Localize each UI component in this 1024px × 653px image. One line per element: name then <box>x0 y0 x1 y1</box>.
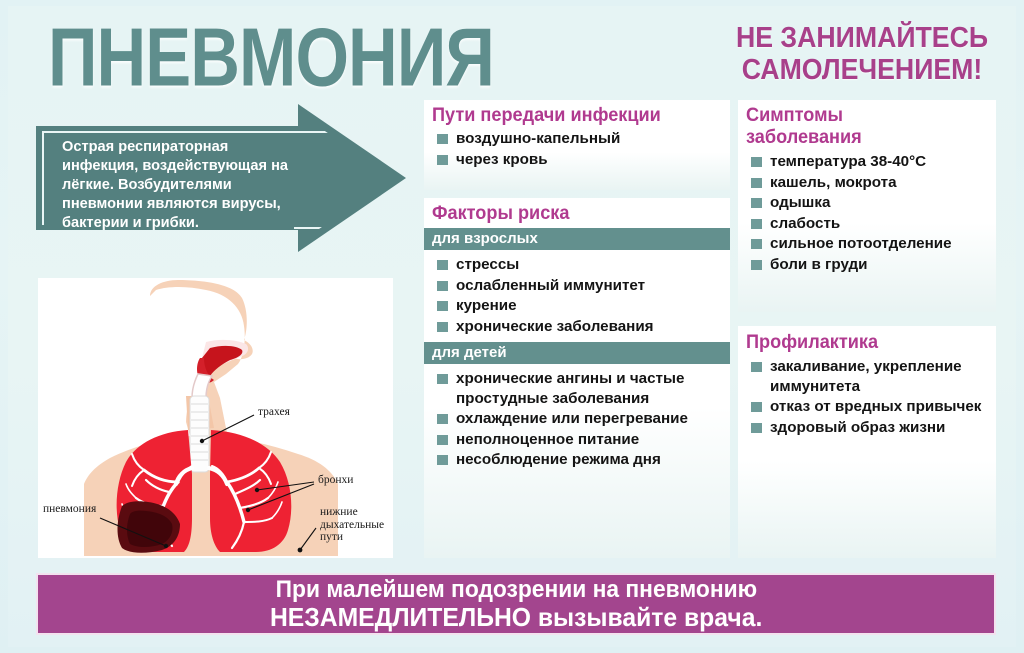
list-item: ослабленный иммунитет <box>434 276 730 296</box>
list-item: одышка <box>748 193 996 213</box>
list-item-label: хронические заболевания <box>456 318 654 335</box>
definition-arrow: Острая респираторная инфекция, воздейств… <box>36 104 406 252</box>
label-trachea: трахея <box>258 406 290 418</box>
label-pneumonia: пневмония <box>43 503 96 515</box>
list-item: через кровь <box>434 150 730 170</box>
list-item-label: стрессы <box>456 256 519 273</box>
list-item-label: закаливание, укрепление иммунитета <box>770 358 962 395</box>
list-item-label: через кровь <box>456 151 548 168</box>
list-item-label: здоровый образ жизни <box>770 419 945 436</box>
list-item: здоровый образ жизни <box>748 418 996 438</box>
risk-factors-adults-subtitle: для взрослых <box>424 228 730 250</box>
bullet-square-icon <box>437 455 448 465</box>
bullet-square-icon <box>437 301 448 311</box>
bullet-square-icon <box>751 260 762 270</box>
call-doctor-banner: При малейшем подозрении на пневмонию НЕЗ… <box>36 573 996 635</box>
list-item: стрессы <box>434 255 730 275</box>
bullet-square-icon <box>751 198 762 208</box>
respiratory-system-illustration: трахея бронхи нижние дыхательные пути пн… <box>38 278 393 558</box>
poster-root: ПНЕВМОНИЯ НЕ ЗАНИМАЙТЕСЬ САМОЛЕЧЕНИЕМ! О… <box>0 0 1024 653</box>
symptoms-title-line-1: Симптомы <box>746 104 979 126</box>
bullet-square-icon <box>751 402 762 412</box>
bullet-square-icon <box>751 178 762 188</box>
bullet-square-icon <box>751 219 762 229</box>
bullet-square-icon <box>751 157 762 167</box>
page-title: ПНЕВМОНИЯ <box>48 16 494 99</box>
list-item: хронические ангины и частые простудные з… <box>434 369 730 408</box>
bullet-square-icon <box>437 134 448 144</box>
definition-text: Острая респираторная инфекция, воздейств… <box>62 138 302 233</box>
warning-heading-line-2: САМОЛЕЧЕНИЕМ! <box>724 54 1000 86</box>
symptoms-card: Симптомы заболевания температура 38-40°C… <box>738 100 996 312</box>
list-item: кашель, мокрота <box>748 173 996 193</box>
bullet-square-icon <box>437 260 448 270</box>
risk-factors-children-subtitle: для детей <box>424 342 730 364</box>
banner-line-1: При малейшем подозрении на пневмонию <box>275 576 756 603</box>
list-item-label: ослабленный иммунитет <box>456 277 645 294</box>
list-item: боли в груди <box>748 255 996 275</box>
list-item: отказ от вредных привычек <box>748 397 996 417</box>
transmission-card: Пути передачи инфекции воздушно-капельны… <box>424 100 730 190</box>
list-item-label: воздушно-капельный <box>456 130 620 147</box>
list-item: закаливание, укрепление иммунитета <box>748 357 996 396</box>
risk-factors-children-list: хронические ангины и частые простудные з… <box>434 369 730 470</box>
transmission-title: Пути передачи инфекции <box>432 104 709 127</box>
list-item: охлаждение или перегревание <box>434 409 730 429</box>
list-item-label: неполноценное питание <box>456 431 639 448</box>
bullet-square-icon <box>437 435 448 445</box>
prevention-card: Профилактика закаливание, укрепление имм… <box>738 326 996 558</box>
list-item: воздушно-капельный <box>434 129 730 149</box>
list-item: температура 38-40°C <box>748 152 996 172</box>
warning-heading: НЕ ЗАНИМАЙТЕСЬ САМОЛЕЧЕНИЕМ! <box>724 22 1000 86</box>
prevention-list: закаливание, укрепление иммунитета отказ… <box>748 357 996 437</box>
risk-factors-title: Факторы риска <box>432 202 709 225</box>
risk-factors-adults-list: стрессы ослабленный иммунитет курение хр… <box>434 255 730 336</box>
list-item-label: одышка <box>770 194 830 211</box>
list-item-label: температура 38-40°C <box>770 153 926 170</box>
warning-heading-line-1: НЕ ЗАНИМАЙТЕСЬ <box>724 22 1000 54</box>
list-item: неполноценное питание <box>434 430 730 450</box>
list-item-label: слабость <box>770 215 840 232</box>
list-item-label: охлаждение или перегревание <box>456 410 688 427</box>
list-item-label: курение <box>456 297 517 314</box>
bullet-square-icon <box>437 281 448 291</box>
risk-factors-card: Факторы риска для взрослых стрессы ослаб… <box>424 198 730 558</box>
bullet-square-icon <box>437 374 448 384</box>
symptoms-title-line-2: заболевания <box>746 126 979 148</box>
list-item-label: кашель, мокрота <box>770 174 897 191</box>
bullet-square-icon <box>437 155 448 165</box>
symptoms-title: Симптомы заболевания <box>746 104 979 148</box>
bullet-square-icon <box>437 414 448 424</box>
list-item-label: отказ от вредных привычек <box>770 398 981 415</box>
list-item: слабость <box>748 214 996 234</box>
bullet-square-icon <box>751 423 762 433</box>
symptoms-list: температура 38-40°C кашель, мокрота одыш… <box>748 152 996 274</box>
banner-line-2: НЕЗАМЕДЛИТЕЛЬНО вызывайте врача. <box>270 603 762 632</box>
list-item-label: сильное потоотделение <box>770 235 952 252</box>
bullet-square-icon <box>751 239 762 249</box>
list-item-label: боли в груди <box>770 256 868 273</box>
label-bronchi: бронхи <box>318 474 353 486</box>
bullet-square-icon <box>751 362 762 372</box>
list-item: сильное потоотделение <box>748 234 996 254</box>
bullet-square-icon <box>437 322 448 332</box>
list-item: хронические заболевания <box>434 317 730 337</box>
label-lower-airways: нижние дыхательные пути <box>320 506 386 544</box>
list-item-label: хронические ангины и частые простудные з… <box>456 370 684 407</box>
transmission-list: воздушно-капельный через кровь <box>434 129 730 169</box>
list-item: несоблюдение режима дня <box>434 450 730 470</box>
list-item: курение <box>434 296 730 316</box>
prevention-title: Профилактика <box>746 331 979 354</box>
list-item-label: несоблюдение режима дня <box>456 451 661 468</box>
